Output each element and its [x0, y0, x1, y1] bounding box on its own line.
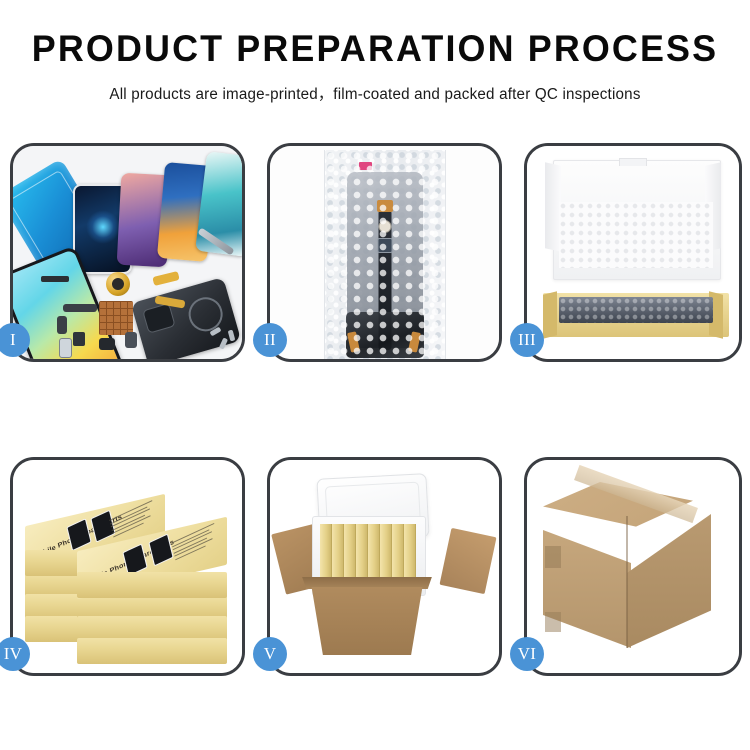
foam-sheet	[559, 202, 713, 268]
step-4-image: Mobile Phone Spare Parts Mobile Phone Sp…	[13, 460, 242, 673]
flex-cable-c	[63, 304, 97, 312]
box-stack: Mobile Phone Spare Parts Mobile Phone Sp…	[21, 476, 235, 666]
step-3-image	[527, 146, 739, 359]
step-5-image	[270, 460, 499, 673]
page-subtitle: All products are image-printed，film-coat…	[8, 82, 743, 104]
step-badge-3: III	[510, 323, 544, 357]
phone-fan-group	[73, 152, 242, 272]
process-step-2[interactable]: II	[267, 143, 502, 362]
box-side-10	[77, 638, 227, 664]
step-badge-6: VI	[510, 637, 544, 671]
flex-cable-a	[152, 271, 179, 286]
step-2-image	[270, 146, 499, 359]
process-step-6[interactable]: VI	[524, 457, 742, 676]
speaker-coil-part	[106, 272, 130, 296]
connector-square	[377, 238, 392, 253]
tray-corner-left	[543, 291, 557, 338]
flex-cable-d	[57, 316, 67, 334]
small-part-b	[99, 338, 115, 350]
copper-grid-part	[99, 301, 133, 335]
pink-label	[359, 162, 372, 170]
process-step-1[interactable]: I	[10, 143, 245, 362]
process-step-4[interactable]: Mobile Phone Spare Parts Mobile Phone Sp…	[10, 457, 245, 676]
carton-front-panel	[304, 587, 430, 655]
step-badge-5: V	[253, 637, 287, 671]
carton-corner-seam	[626, 516, 628, 648]
process-step-3[interactable]: III	[524, 143, 742, 362]
step-6-image	[527, 460, 739, 673]
process-step-grid: I II	[10, 143, 740, 676]
small-part-d	[59, 338, 72, 358]
yellow-boxes-inside	[320, 524, 418, 580]
carton-right-face	[627, 514, 711, 648]
lid-notch	[619, 158, 647, 166]
process-step-5[interactable]: V	[267, 457, 502, 676]
small-part-c	[125, 332, 137, 348]
carton-flap-right	[439, 528, 496, 594]
tape-edge-lower	[545, 612, 561, 632]
small-part-a	[73, 332, 85, 346]
connector-gold	[377, 200, 393, 212]
box-label-textlines-front	[171, 523, 219, 562]
box-side-top-front	[77, 572, 227, 598]
bubble-wrap-sleeve	[324, 150, 446, 359]
strip-part	[41, 276, 69, 282]
connector-round	[378, 220, 391, 233]
page-title: PRODUCT PREPARATION PROCESS	[11, 30, 739, 69]
bubble-wrapped-contents	[559, 297, 713, 323]
step-1-image	[13, 146, 242, 359]
page-header: PRODUCT PREPARATION PROCESS All products…	[0, 0, 750, 104]
box-label-phone-4	[148, 533, 173, 566]
step-badge-2: II	[253, 323, 287, 357]
tape-edge-upper	[545, 546, 561, 568]
